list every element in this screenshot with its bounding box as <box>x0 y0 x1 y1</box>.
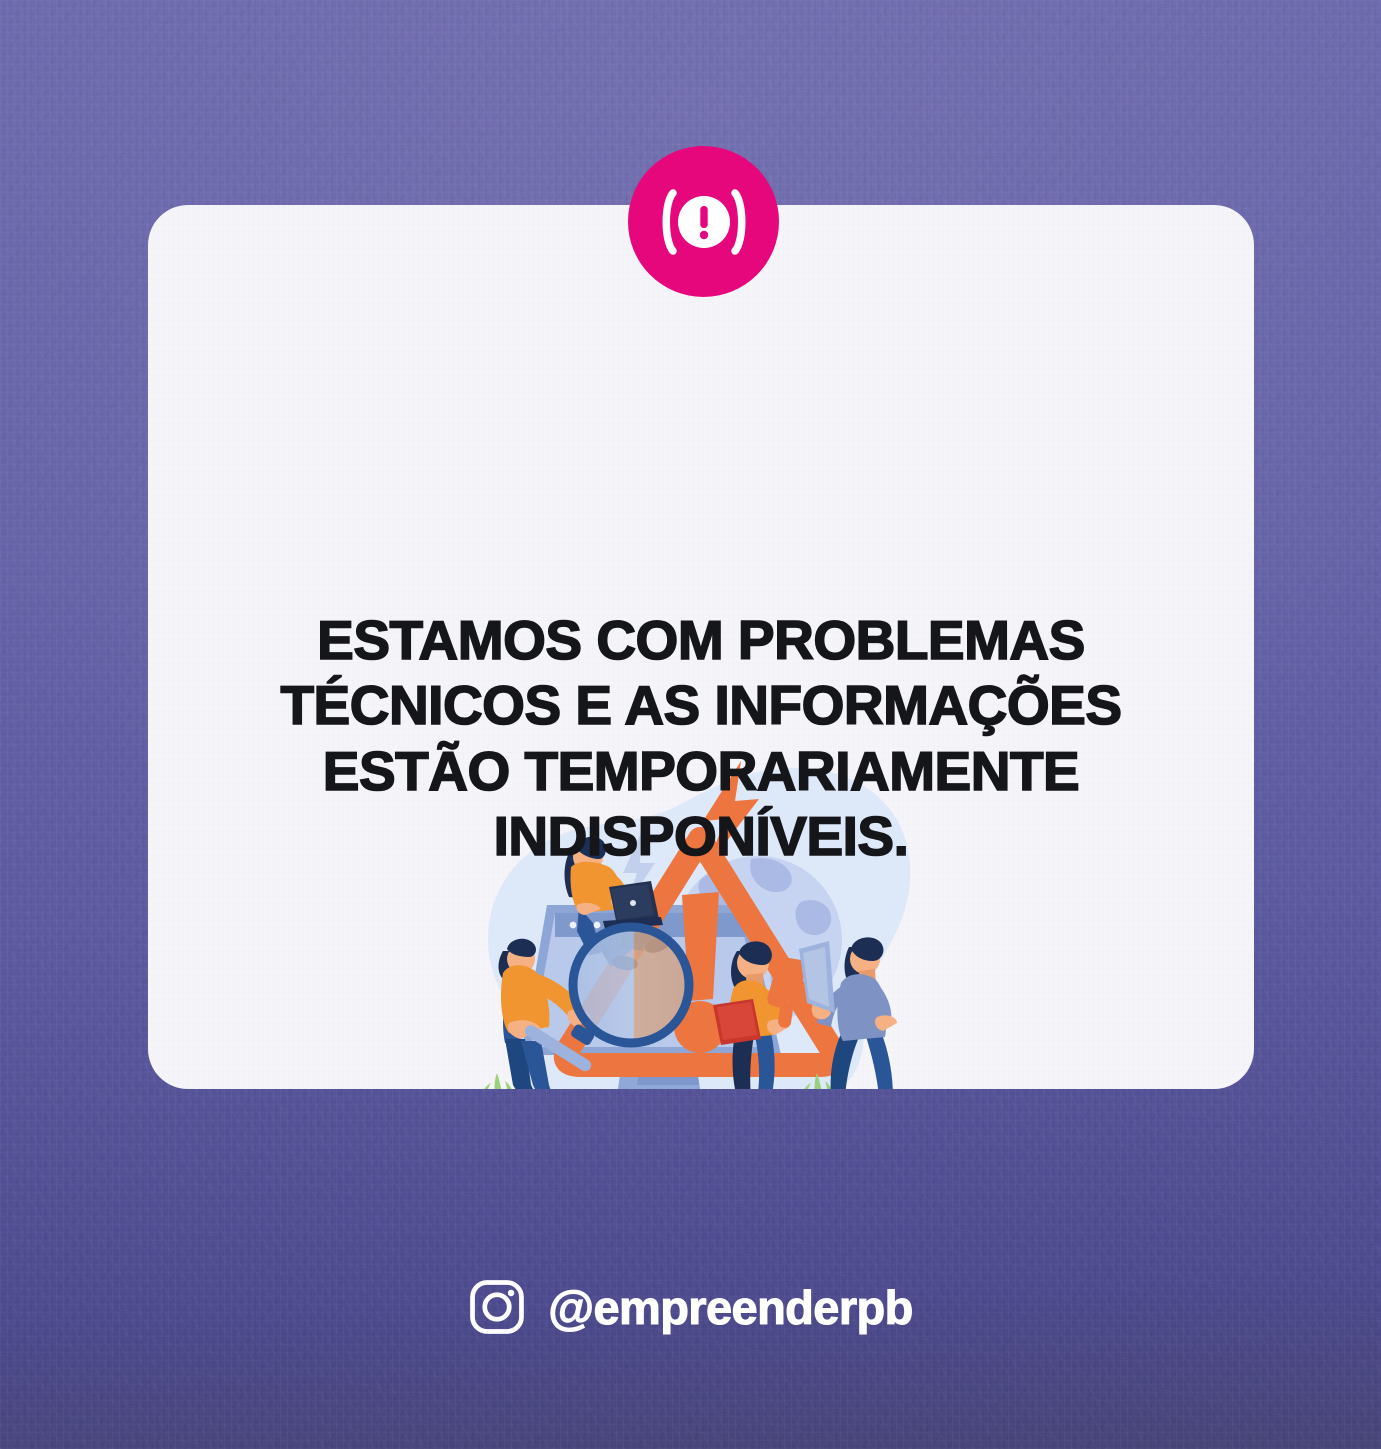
clipboard-icon <box>713 999 761 1045</box>
instagram-handle[interactable]: @empreenderpb <box>548 1280 913 1335</box>
instagram-icon[interactable] <box>468 1278 526 1336</box>
page-title: ESTAMOS COM PROBLEMAS TÉCNICOS E AS INFO… <box>148 608 1254 870</box>
footer-social: @empreenderpb <box>0 1278 1381 1336</box>
alert-badge <box>628 146 779 297</box>
grass-tuft <box>480 1073 515 1089</box>
content-card: ESTAMOS COM PROBLEMAS TÉCNICOS E AS INFO… <box>148 205 1254 1089</box>
poster-canvas: ESTAMOS COM PROBLEMAS TÉCNICOS E AS INFO… <box>0 0 1381 1449</box>
alert-broadcast-icon <box>656 183 752 261</box>
